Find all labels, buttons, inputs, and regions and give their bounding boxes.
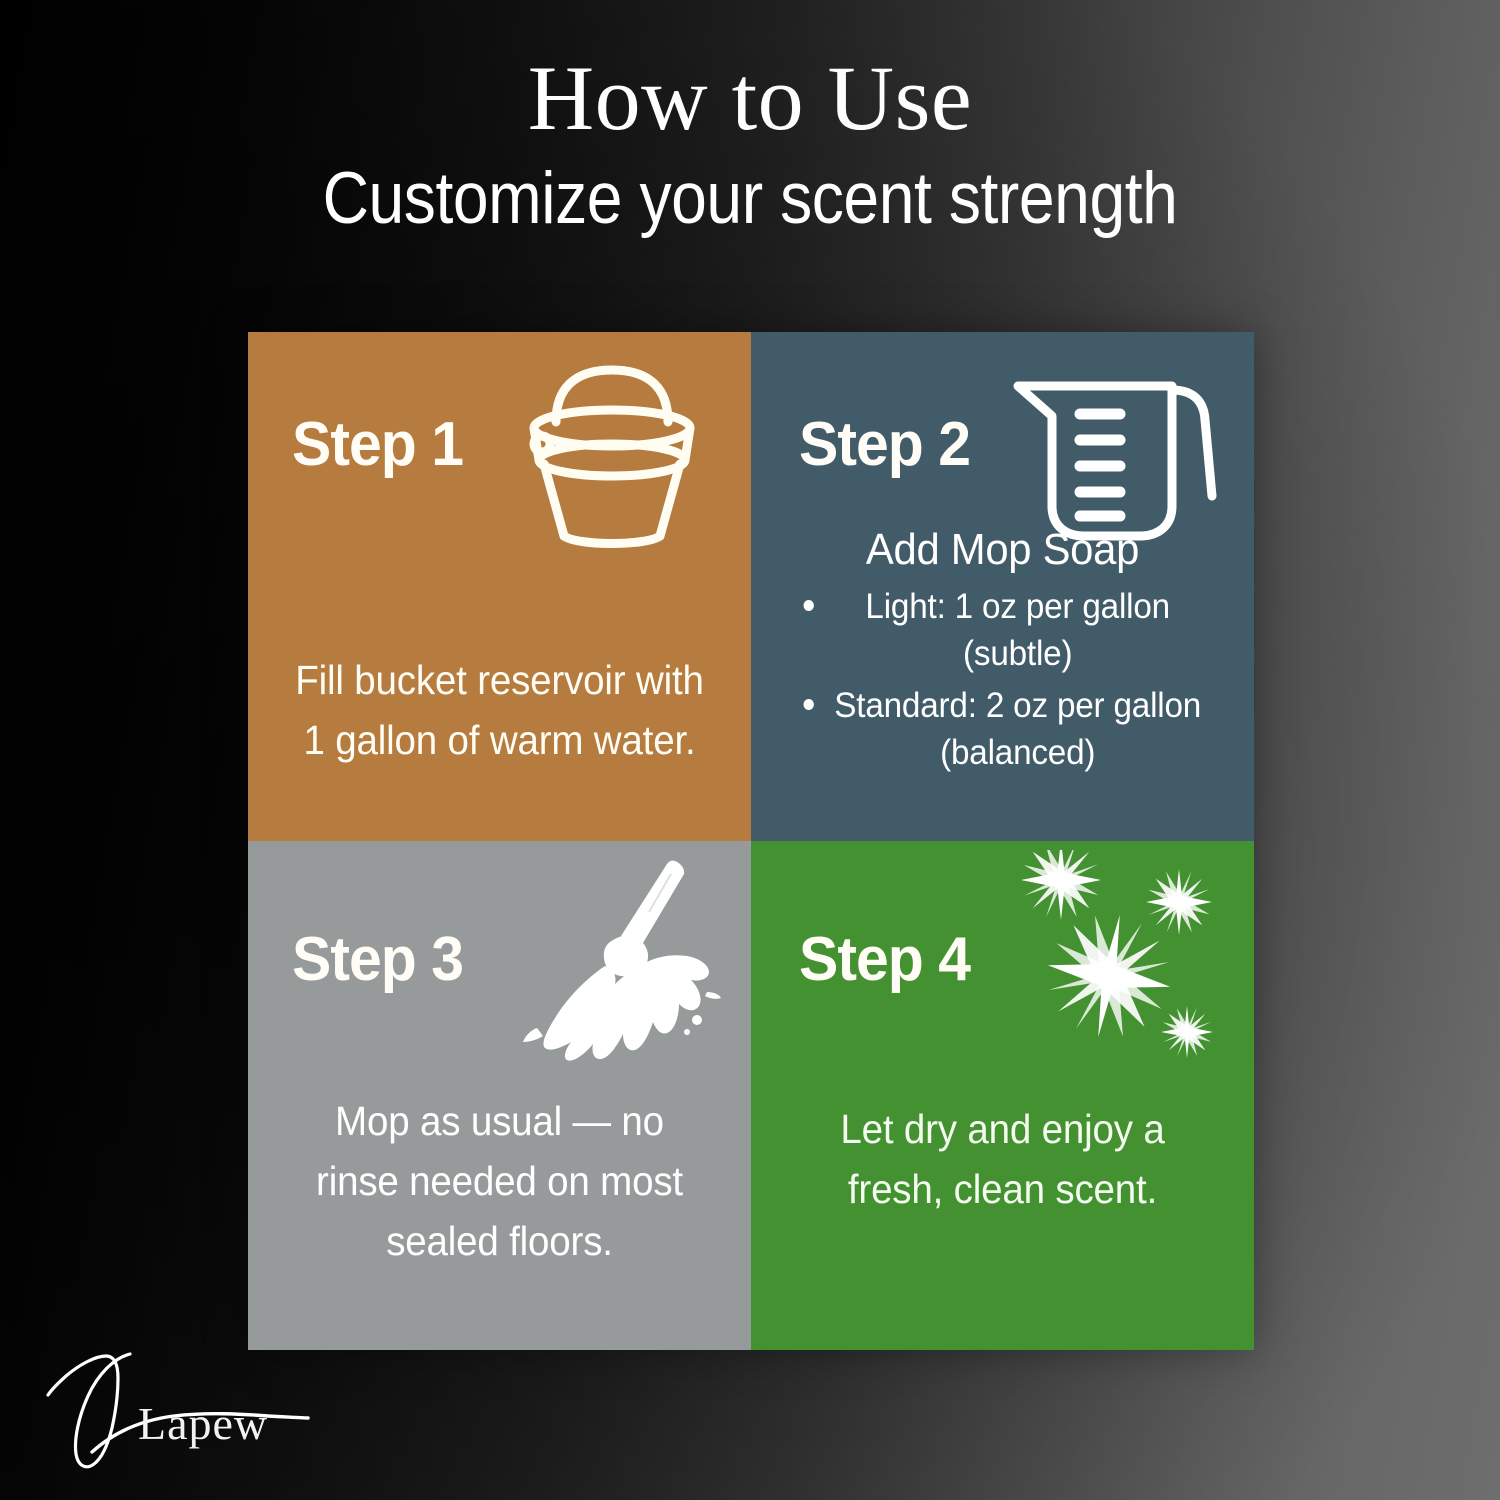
step-2-content: Add Mop Soap Light: 1 oz per gallon (sub…	[769, 522, 1236, 781]
bucket-icon	[497, 358, 727, 558]
step-1-label: Step 1	[292, 414, 463, 476]
page-title: How to Use	[0, 52, 1500, 144]
sparkle-icon	[992, 847, 1252, 1087]
step-2-bullet-1: Standard: 2 oz per gallon (balanced)	[834, 686, 1201, 773]
header: How to Use Customize your scent strength	[0, 52, 1500, 236]
step-card-4: Step 4 Let dry and enjoy a fresh, clean …	[751, 841, 1254, 1350]
mop-icon	[491, 849, 741, 1069]
step-2-label: Step 2	[799, 414, 970, 476]
brand-logo: Lapew	[36, 1348, 356, 1478]
step-3-body: Mop as usual — no rinse needed on most s…	[295, 1092, 704, 1272]
step-3-label: Step 3	[292, 929, 463, 991]
list-item: Standard: 2 oz per gallon (balanced)	[781, 682, 1225, 777]
bullet-dot-icon	[803, 699, 813, 710]
step-4-body: Let dry and enjoy a fresh, clean scent.	[798, 1100, 1207, 1220]
list-item: Light: 1 oz per gallon (subtle)	[781, 583, 1225, 678]
step-2-bullet-0: Light: 1 oz per gallon (subtle)	[865, 587, 1170, 674]
logo-wordmark: Lapew	[138, 1397, 268, 1450]
page-subtitle: Customize your scent strength	[90, 162, 1410, 236]
step-card-1: Step 1 Fill bucket reservoir with 1 gall…	[248, 332, 751, 841]
step-card-2: Step 2 Add Mop Soap	[751, 332, 1254, 841]
step-2-bullet-list: Light: 1 oz per gallon (subtle) Standard…	[769, 583, 1236, 777]
bullet-dot-icon	[803, 600, 813, 611]
step-card-3: Step 3 Mop as usual — no rinse needed on…	[248, 841, 751, 1350]
step-1-body: Fill bucket reservoir with 1 gallon of w…	[295, 651, 704, 771]
steps-grid: Step 1 Fill bucket reservoir with 1 gall…	[248, 332, 1254, 1350]
step-4-label: Step 4	[799, 929, 970, 991]
step-2-heading: Add Mop Soap	[781, 522, 1225, 577]
